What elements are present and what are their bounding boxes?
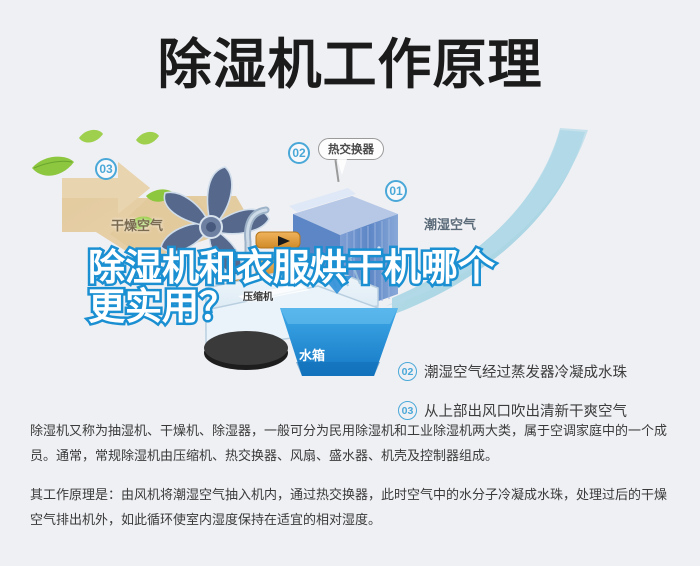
water-tank-label: 水箱 — [299, 345, 325, 364]
heat-exchanger-callout: 热交换器 — [318, 138, 384, 160]
page-root: 除湿机工作原理 — [0, 0, 700, 566]
legend-item-02: 02 潮湿空气经过蒸发器冷凝成水珠 — [398, 358, 698, 385]
overlay-headline-line1: 除湿机和衣服烘干机哪个 — [88, 248, 608, 287]
overlay-headline: 除湿机和衣服烘干机哪个 更实用？ — [88, 248, 608, 326]
diagram-badge-02: 02 — [288, 142, 310, 164]
legend-label: 潮湿空气经过蒸发器冷凝成水珠 — [424, 361, 627, 382]
legend-number: 02 — [398, 362, 417, 381]
diagram-badge-03: 03 — [95, 158, 117, 180]
diagram-badge-01: 01 — [385, 180, 407, 202]
body-copy: 除湿机又称为抽湿机、干燥机、除湿器，一般可分为民用除湿机和工业除湿机两大类，属于… — [30, 418, 675, 546]
humid-air-label: 潮湿空气 — [424, 214, 476, 233]
page-title: 除湿机工作原理 — [0, 34, 700, 96]
dry-air-label: 干燥空气 — [111, 215, 163, 234]
overlay-headline-line2: 更实用？ — [88, 287, 608, 326]
body-paragraph-2: 其工作原理是：由风机将潮湿空气抽入机内，通过热交换器，此时空气中的水分子冷凝成水… — [30, 482, 675, 532]
body-paragraph-1: 除湿机又称为抽湿机、干燥机、除湿器，一般可分为民用除湿机和工业除湿机两大类，属于… — [30, 418, 675, 468]
